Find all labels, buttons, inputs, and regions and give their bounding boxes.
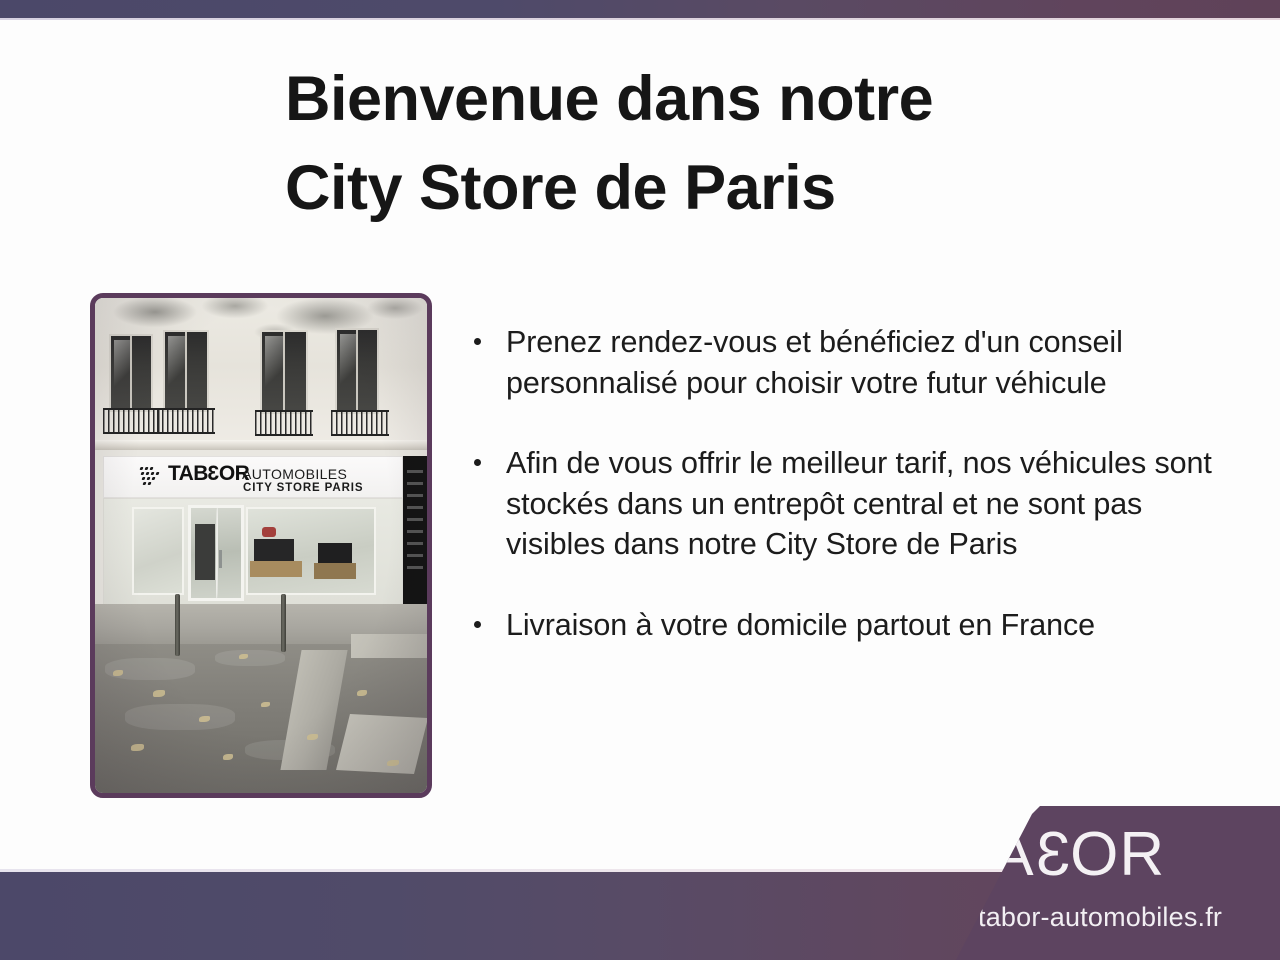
sign-brand-wordmark: TAB3OR bbox=[168, 463, 249, 484]
interior-monitor bbox=[254, 539, 294, 561]
pavement-patch bbox=[105, 658, 195, 680]
bullet-text: Afin de vous offrir le meilleur tarif, n… bbox=[506, 446, 1212, 561]
fallen-leaf bbox=[223, 754, 233, 760]
street-bollard-right bbox=[281, 594, 286, 652]
window-mullion bbox=[185, 332, 187, 410]
top-brand-bar-hairline bbox=[0, 18, 1280, 20]
neighbouring-dark-panel bbox=[403, 456, 427, 604]
interior-desk-2 bbox=[314, 563, 356, 579]
balcony-railing-1 bbox=[103, 408, 161, 434]
storefront-sign: TAB3OR AUTOMOBILES CITY STORE PARIS bbox=[103, 456, 403, 498]
facade-window-2 bbox=[163, 330, 209, 412]
window-glare bbox=[340, 334, 356, 391]
shop-entrance-door bbox=[188, 505, 244, 601]
fallen-leaf bbox=[261, 702, 270, 707]
window-mullion bbox=[130, 336, 132, 410]
list-item: Prenez rendez-vous et bénéficiez d'un co… bbox=[470, 322, 1240, 403]
interior-monitor-2 bbox=[318, 543, 352, 563]
street-bollard-left bbox=[175, 594, 180, 656]
balcony-railing-3 bbox=[255, 410, 313, 436]
fallen-leaf bbox=[357, 690, 367, 696]
door-center-leaf bbox=[216, 508, 218, 598]
storefront-photo-frame: TAB3OR AUTOMOBILES CITY STORE PARIS bbox=[90, 293, 432, 798]
interior-desk bbox=[250, 561, 302, 577]
bullet-dot-icon bbox=[474, 621, 481, 628]
window-glare bbox=[114, 340, 130, 392]
fallen-leaf bbox=[239, 654, 248, 659]
fallen-leaf bbox=[199, 716, 210, 722]
facade-cornice bbox=[95, 440, 427, 450]
sign-subtitle-citystore: CITY STORE PARIS bbox=[243, 483, 363, 495]
window-mullion bbox=[356, 330, 358, 412]
shop-window-left bbox=[132, 507, 184, 595]
window-glare bbox=[265, 336, 283, 392]
bullet-text: Livraison à votre domicile partout en Fr… bbox=[506, 608, 1095, 642]
bullet-list: Prenez rendez-vous et bénéficiez d'un co… bbox=[470, 322, 1240, 645]
slide: Bienvenue dans notre City Store de Paris bbox=[0, 0, 1280, 960]
bullet-dot-icon bbox=[474, 338, 481, 345]
kerb-block bbox=[336, 714, 427, 774]
tabor-website-url: tabor-automobiles.fr bbox=[978, 902, 1222, 933]
sign-subtitle-automobiles: AUTOMOBILES bbox=[242, 467, 347, 481]
door-interior-shadow bbox=[195, 524, 215, 580]
storefront-photo: TAB3OR AUTOMOBILES CITY STORE PARIS bbox=[95, 298, 427, 793]
pavement-patch bbox=[215, 650, 285, 666]
fallen-leaf bbox=[307, 734, 318, 740]
fallen-leaf bbox=[387, 760, 399, 766]
fallen-leaf bbox=[113, 670, 123, 676]
facade-window-1 bbox=[109, 334, 153, 412]
window-glare bbox=[168, 336, 185, 391]
tabor-dots-icon bbox=[140, 467, 164, 485]
door-handle bbox=[219, 550, 222, 568]
fallen-leaf bbox=[131, 744, 144, 751]
bullet-text: Prenez rendez-vous et bénéficiez d'un co… bbox=[506, 325, 1123, 400]
shop-window-right bbox=[246, 507, 376, 595]
balcony-railing-4 bbox=[331, 410, 389, 436]
interior-red-object bbox=[262, 527, 276, 537]
shop-window-area bbox=[103, 498, 403, 606]
top-brand-bar bbox=[0, 0, 1280, 18]
balcony-railing-2 bbox=[157, 408, 215, 434]
window-mullion bbox=[283, 332, 285, 412]
facade-window-3 bbox=[260, 330, 308, 414]
fallen-leaf bbox=[153, 690, 165, 697]
list-item: Livraison à votre domicile partout en Fr… bbox=[470, 605, 1240, 646]
kerb-upper bbox=[351, 634, 427, 658]
pavement-patch bbox=[125, 704, 235, 730]
title-line-1: Bienvenue dans notre bbox=[285, 64, 933, 134]
page-title: Bienvenue dans notre City Store de Paris bbox=[285, 55, 1045, 234]
bullet-dot-icon bbox=[474, 459, 481, 466]
title-line-2: City Store de Paris bbox=[285, 144, 1045, 233]
list-item: Afin de vous offrir le meilleur tarif, n… bbox=[470, 443, 1240, 565]
facade-window-4 bbox=[335, 328, 379, 414]
